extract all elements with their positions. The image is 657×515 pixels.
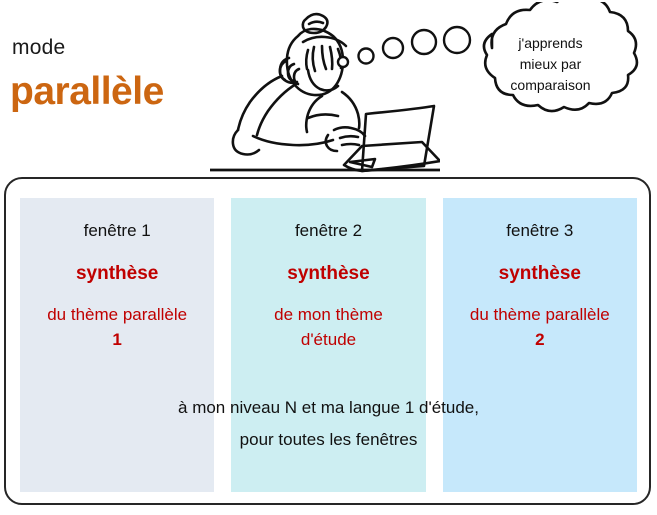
synthese-heading-1: synthèse — [20, 262, 214, 286]
window-label-1: fenêtre 1 — [20, 220, 214, 242]
window-column-3[interactable]: fenêtre 3 synthèse du thème parallèle 2 — [443, 198, 637, 492]
synthese-desc-number-1: 1 — [112, 330, 121, 349]
thought-bubble-text: j'apprends mieux par comparaison — [468, 33, 633, 96]
page-title: parallèle — [10, 72, 164, 111]
synthese-desc-number-3: 2 — [535, 330, 544, 349]
synthese-desc-1: du thème parallèle 1 — [20, 302, 214, 352]
window-columns: fenêtre 1 synthèse du thème parallèle 1 … — [20, 198, 637, 492]
synthese-desc-text-2: de mon thème — [274, 305, 383, 324]
header-area: mode parallèle — [0, 0, 657, 176]
synthese-desc-text-3: du thème parallèle — [470, 305, 610, 324]
bubble-line-3: comparaison — [468, 75, 633, 96]
window-column-2[interactable]: fenêtre 2 synthèse de mon thème d'étude — [231, 198, 425, 492]
synthese-desc-text-1: du thème parallèle — [47, 305, 187, 324]
synthese-desc-number-2: d'étude — [301, 330, 356, 349]
bubble-line-1: j'apprends — [468, 33, 633, 54]
synthese-heading-2: synthèse — [231, 262, 425, 286]
window-column-1[interactable]: fenêtre 1 synthèse du thème parallèle 1 — [20, 198, 214, 492]
bubble-line-2: mieux par — [468, 54, 633, 75]
synthese-desc-3: du thème parallèle 2 — [443, 302, 637, 352]
window-label-3: fenêtre 3 — [443, 220, 637, 242]
mode-label: mode — [12, 36, 65, 60]
synthese-heading-3: synthèse — [443, 262, 637, 286]
synthese-desc-2: de mon thème d'étude — [231, 302, 425, 352]
window-label-2: fenêtre 2 — [231, 220, 425, 242]
